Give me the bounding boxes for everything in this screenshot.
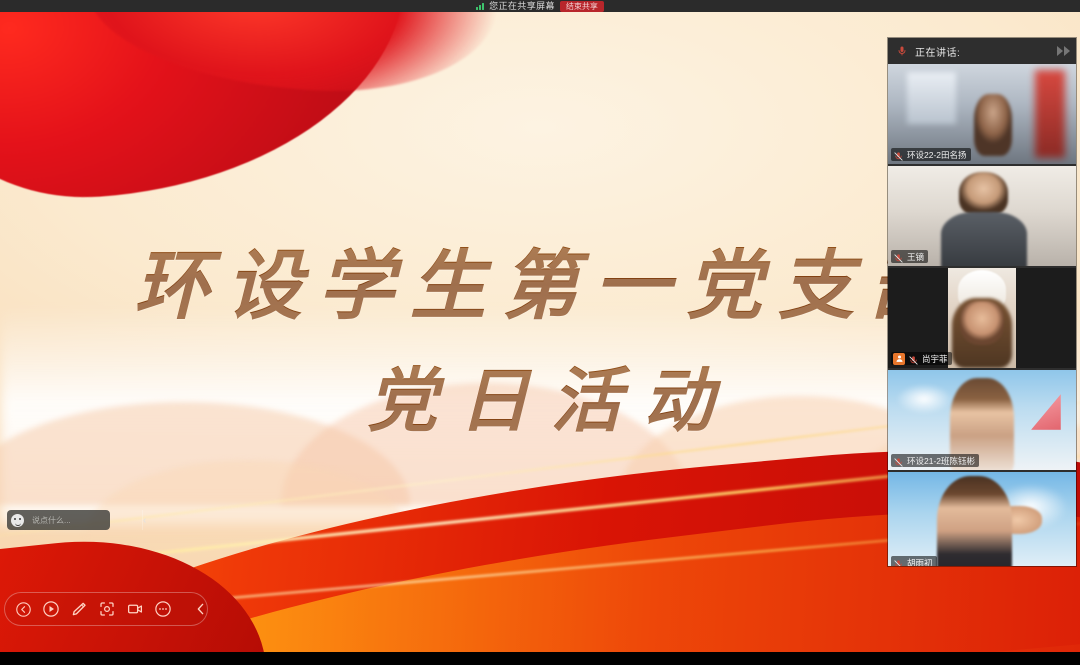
participant-name: 胡雨初 xyxy=(907,557,933,567)
signal-bars-icon xyxy=(476,2,484,10)
participant-label: 尚宇菲 xyxy=(891,352,952,365)
screen-record-button[interactable] xyxy=(121,595,149,623)
speaking-mic-icon xyxy=(896,45,908,57)
active-speaker-label: 正在讲话: xyxy=(915,44,960,59)
annotate-pen-button[interactable] xyxy=(65,595,93,623)
double-chevron-right-icon[interactable] xyxy=(1057,46,1070,56)
participant-label: 环设22-2田名扬 xyxy=(891,148,971,161)
participant-label: 环设21-2班陈钰彬 xyxy=(891,454,979,467)
mic-muted-icon xyxy=(893,149,904,160)
participant-video xyxy=(888,472,1076,566)
more-options-button[interactable] xyxy=(149,595,177,623)
participant-tile[interactable]: 环设21-2班陈钰彬 xyxy=(888,370,1076,470)
previous-slide-button[interactable] xyxy=(9,595,37,623)
participant-name: 尚宇菲 xyxy=(922,353,948,365)
participant-label: 胡雨初 xyxy=(891,556,937,566)
participant-tile[interactable]: 王镝 xyxy=(888,166,1076,266)
share-status-text: 您正在共享屏幕 xyxy=(489,1,555,12)
screen-share-status-bar: 您正在共享屏幕 结束共享 xyxy=(0,0,1080,12)
mic-muted-icon xyxy=(893,557,904,566)
collapse-toolbar-button[interactable] xyxy=(187,595,215,623)
participant-tile[interactable]: 尚宇菲 xyxy=(888,268,1076,368)
participant-tile[interactable]: 胡雨初 xyxy=(888,472,1076,566)
participant-name: 环设21-2班陈钰彬 xyxy=(907,455,975,467)
end-share-button[interactable]: 结束共享 xyxy=(560,1,604,12)
meeting-screen-share-window: 您正在共享屏幕 结束共享 环设学生第一党支部 党日活动 ‹ xyxy=(0,0,1080,665)
play-button[interactable] xyxy=(37,595,65,623)
participant-name: 王镝 xyxy=(907,251,924,263)
host-badge-icon xyxy=(893,353,905,365)
participant-tile[interactable]: 环设22-2田名扬 xyxy=(888,64,1076,164)
participant-label: 王镝 xyxy=(891,250,928,263)
chat-collapse-button[interactable]: ‹ xyxy=(142,510,146,530)
active-speaker-header: 正在讲话: xyxy=(888,38,1076,64)
annotation-toolbar xyxy=(4,592,208,626)
participant-name: 环设22-2田名扬 xyxy=(907,149,967,161)
emoji-smiley-icon[interactable] xyxy=(11,514,24,527)
chat-input-bar[interactable]: ‹ xyxy=(7,510,110,530)
participant-video-sidebar: 正在讲话: 环设22-2田名扬 xyxy=(888,38,1076,566)
spotlight-frame-icon[interactable] xyxy=(93,595,121,623)
chat-input[interactable] xyxy=(32,516,142,525)
mic-muted-icon xyxy=(893,251,904,262)
mic-muted-icon xyxy=(908,353,919,364)
mic-muted-icon xyxy=(893,455,904,466)
